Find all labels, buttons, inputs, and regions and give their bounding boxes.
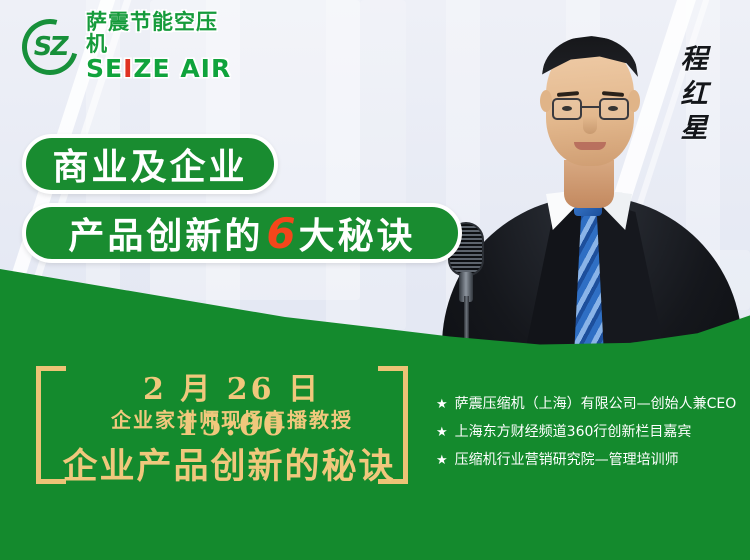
star-icon: ★ bbox=[436, 426, 448, 441]
headline-line-2-after: 大秘诀 bbox=[299, 207, 416, 259]
speaker-name-char-1: 程 bbox=[681, 46, 708, 75]
portrait-neck bbox=[564, 160, 614, 208]
credential-text: 上海东方财经频道360行创新栏目嘉宾 bbox=[455, 424, 692, 440]
portrait-mouth bbox=[574, 142, 606, 150]
headline-pill-2: 产品创新的6大秘诀 bbox=[22, 203, 462, 263]
star-icon: ★ bbox=[436, 398, 448, 413]
portrait-nose bbox=[583, 116, 597, 134]
logo-monogram-text: SZ bbox=[28, 31, 72, 63]
event-topic: 企业产品创新的秘诀 bbox=[56, 438, 402, 489]
portrait-ear-left bbox=[540, 90, 552, 112]
background-panel-2 bbox=[360, 0, 406, 330]
promo-poster: SZ 萨震节能空压机 SEIZE AIR 商业及企业 产品创新的6大秘诀 程 红… bbox=[0, 0, 750, 560]
portrait-glasses-bridge bbox=[582, 106, 599, 108]
headline-line-2-before: 产品创新的 bbox=[68, 207, 263, 259]
brand-logo[interactable]: SZ 萨震节能空压机 SEIZE AIR bbox=[22, 16, 232, 78]
logo-chinese-name: 萨震节能空压机 bbox=[86, 12, 232, 56]
logo-english-prefix: SE bbox=[86, 54, 123, 83]
credential-text: 压缩机行业营销研究院—管理培训师 bbox=[455, 452, 679, 468]
logo-wordmark: 萨震节能空压机 SEIZE AIR bbox=[86, 12, 232, 82]
portrait-ear-right bbox=[628, 90, 640, 112]
list-item: ★ 萨震压缩机（上海）有限公司—创始人兼CEO bbox=[436, 396, 736, 413]
logo-english-suffix: ZE AIR bbox=[133, 54, 231, 83]
logo-english-name: SEIZE AIR bbox=[86, 56, 232, 82]
portrait-glasses-lens-right bbox=[599, 98, 629, 120]
logo-english-i: I bbox=[123, 54, 133, 83]
credential-text: 萨震压缩机（上海）有限公司—创始人兼CEO bbox=[455, 396, 737, 412]
list-item: ★ 上海东方财经频道360行创新栏目嘉宾 bbox=[436, 424, 736, 441]
speaker-name-calligraphy: 程 红 星 bbox=[672, 46, 716, 144]
sz-monogram-icon: SZ bbox=[22, 19, 78, 75]
credentials-list: ★ 萨震压缩机（上海）有限公司—创始人兼CEO ★ 上海东方财经频道360行创新… bbox=[436, 396, 736, 469]
headline-pill-1: 商业及企业 bbox=[22, 134, 278, 194]
list-item: ★ 压缩机行业营销研究院—管理培训师 bbox=[436, 452, 736, 469]
speaker-name-char-3: 星 bbox=[681, 115, 708, 144]
star-icon: ★ bbox=[436, 454, 448, 469]
headline-line-1: 商业及企业 bbox=[52, 138, 247, 190]
event-subtitle: 企业家讲师现场直播教授 bbox=[72, 404, 392, 433]
portrait-glasses-lens-left bbox=[552, 98, 582, 120]
speaker-name-char-2: 红 bbox=[681, 81, 708, 110]
headline-number-six: 6 bbox=[263, 209, 298, 258]
